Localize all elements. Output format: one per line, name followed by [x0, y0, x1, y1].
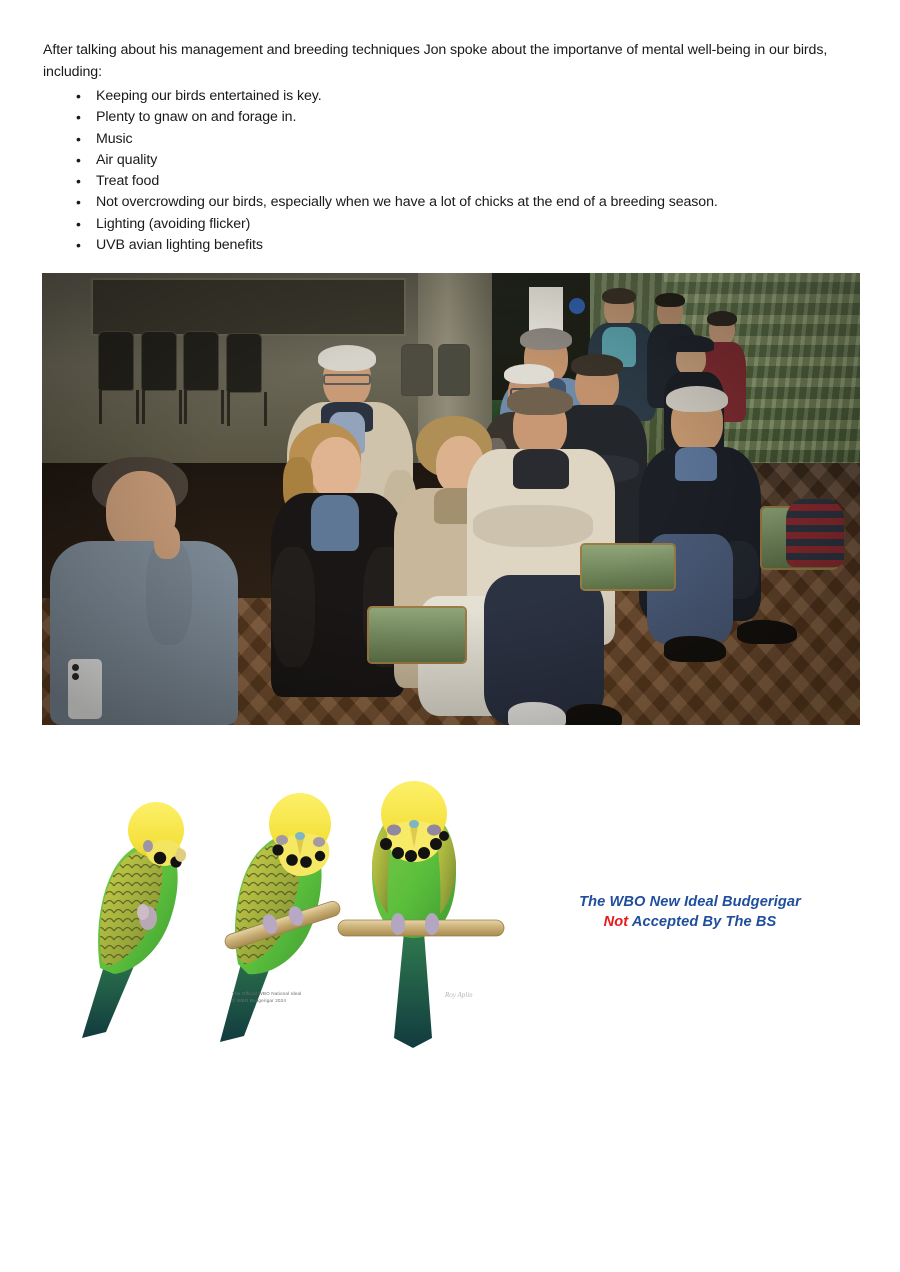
artist-signature: Roy Aplin: [445, 991, 473, 999]
bullet-icon: •: [76, 192, 81, 213]
list-item-label: Keeping our birds entertained is key.: [96, 88, 322, 104]
budgerigar-three-quarter-view: [220, 793, 342, 1042]
list-item: •UVB avian lighting benefits: [43, 235, 853, 256]
document-text-block: After talking about his management and b…: [43, 40, 853, 256]
list-item-label: Not overcrowding our birds, especially w…: [96, 194, 718, 210]
caption-line-2: Not Accepted By The BS: [540, 912, 840, 932]
empty-chair: [227, 334, 267, 426]
list-item: •Treat food: [43, 171, 853, 192]
list-item: •Lighting (avoiding flicker): [43, 214, 853, 235]
budgerigar-illustration: [42, 752, 522, 1052]
eyeglasses-icon: [323, 374, 371, 385]
list-item: •Air quality: [43, 150, 853, 171]
list-item-label: Treat food: [96, 173, 159, 189]
empty-chair: [184, 332, 224, 424]
empty-chair: [99, 332, 139, 424]
bullet-icon: •: [76, 171, 81, 192]
list-item-label: Music: [96, 131, 133, 147]
list-item-label: Air quality: [96, 152, 157, 168]
upholstered-chair: [369, 608, 465, 662]
caption-not-emphasis: Not: [604, 914, 629, 930]
list-item-label: Lighting (avoiding flicker): [96, 216, 250, 232]
wbo-caption: The WBO New Ideal Budgerigar Not Accepte…: [540, 892, 840, 932]
list-item: •Not overcrowding our birds, especially …: [43, 192, 853, 213]
upholstered-chair: [582, 545, 674, 589]
list-item: •Music: [43, 129, 853, 150]
illustration-credit: The Official WBO National Ideal © WBO Bu…: [232, 991, 352, 1004]
caption-line-1: The WBO New Ideal Budgerigar: [540, 892, 840, 912]
list-item: •Keeping our birds entertained is key.: [43, 86, 853, 107]
credit-line-1: The Official WBO National Ideal: [232, 991, 352, 998]
audience-photograph: [42, 273, 860, 725]
empty-chair: [142, 332, 182, 424]
bullet-icon: •: [76, 150, 81, 171]
caption-line-2-rest: Accepted By The BS: [628, 914, 776, 930]
intro-paragraph: After talking about his management and b…: [43, 40, 853, 83]
budgerigar-side-view: [82, 802, 186, 1038]
photo-scene: [42, 273, 860, 725]
budgerigar-front-view: [338, 781, 504, 1048]
wellbeing-bullet-list: •Keeping our birds entertained is key. •…: [43, 86, 853, 256]
empty-chair: [439, 345, 469, 395]
list-item-label: UVB avian lighting benefits: [96, 237, 263, 253]
bullet-icon: •: [76, 129, 81, 150]
bullet-icon: •: [76, 107, 81, 128]
bullet-icon: •: [76, 86, 81, 107]
list-item: •Plenty to gnaw on and forage in.: [43, 107, 853, 128]
audience-member-foreground-grey: [50, 463, 240, 725]
wall-notice-board: [91, 278, 406, 336]
bullet-icon: •: [76, 235, 81, 256]
list-item-label: Plenty to gnaw on and forage in.: [96, 109, 296, 125]
tartan-blanket: [786, 499, 846, 569]
shoe: [664, 636, 726, 662]
smartphone-icon: [68, 659, 102, 719]
bullet-icon: •: [76, 214, 81, 235]
credit-line-2: © WBO Budgerigar 2024: [232, 998, 352, 1005]
hand: [154, 525, 180, 559]
